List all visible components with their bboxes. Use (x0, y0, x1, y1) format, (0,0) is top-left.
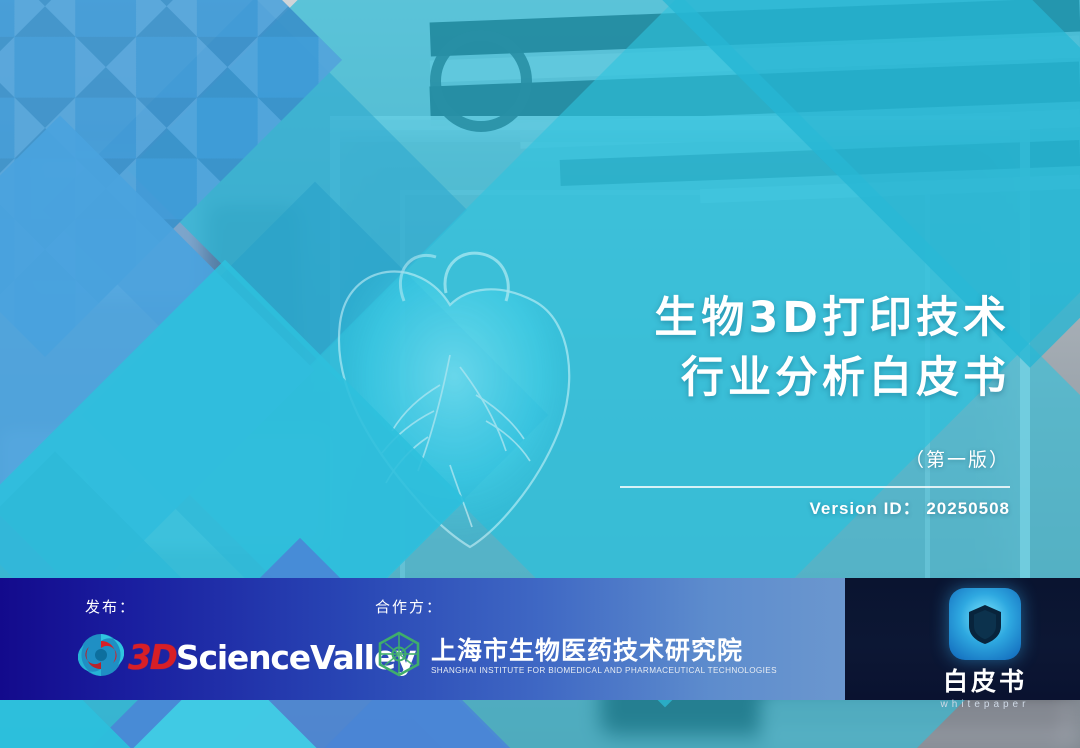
whitepaper-cover-slide: 生物3D打印技术 行业分析白皮书 （第一版） Version ID： 20250… (0, 0, 1080, 748)
hexagon-molecule-icon (376, 630, 422, 683)
title-line-1: 生物3D打印技术 (0, 288, 1010, 348)
title-line-2: 行业分析白皮书 (0, 348, 1010, 408)
version-id: Version ID： 20250508 (0, 494, 1010, 519)
whitepaper-label-en: whitepaper (925, 699, 1045, 710)
partner-name-cn: 上海市生物医药技术研究院 (431, 636, 777, 665)
partner-label: 合作方： (375, 596, 443, 617)
shield-icon (949, 588, 1021, 660)
whitepaper-badge[interactable]: 白皮书 whitepaper (925, 588, 1045, 710)
publisher-mark: 3D (128, 638, 176, 678)
edition-label: （第一版） (0, 445, 1010, 472)
partner-logo[interactable]: 上海市生物医药技术研究院 SHANGHAI INSTITUTE FOR BIOM… (376, 630, 777, 683)
spiral-swirl-icon (78, 632, 124, 683)
partner-name-en: SHANGHAI INSTITUTE FOR BIOMEDICAL AND PH… (431, 665, 777, 677)
title-divider (620, 486, 1010, 488)
partner-wordmark: 上海市生物医药技术研究院 SHANGHAI INSTITUTE FOR BIOM… (431, 636, 777, 677)
whitepaper-label-cn: 白皮书 (925, 662, 1045, 698)
publisher-logo[interactable]: 3D ScienceValley (78, 632, 415, 683)
publisher-label: 发布： (85, 596, 136, 617)
publisher-wordmark: 3D ScienceValley (128, 638, 415, 678)
page-title: 生物3D打印技术 行业分析白皮书 (0, 288, 1010, 408)
